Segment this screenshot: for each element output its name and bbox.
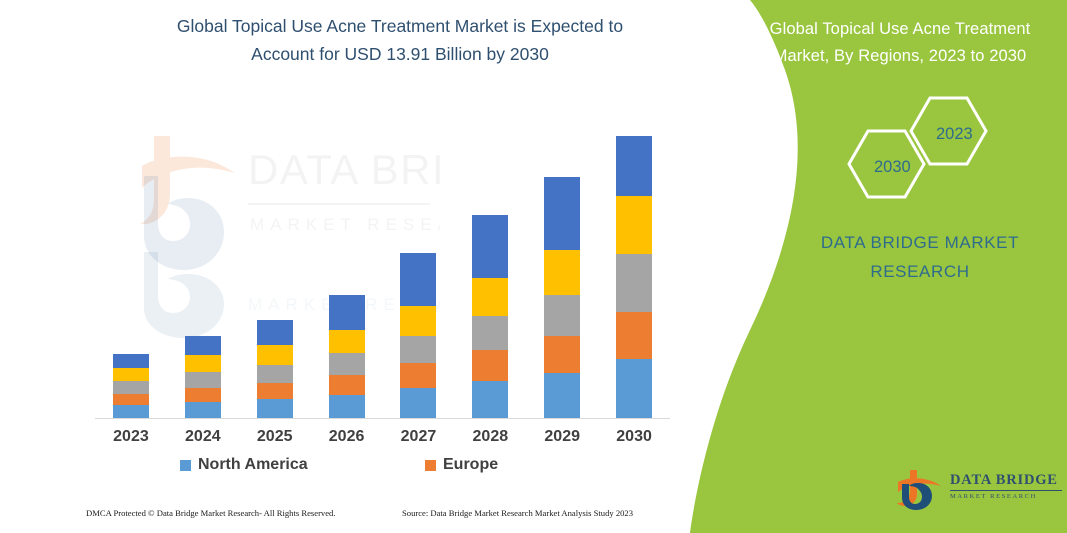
bar-segment [185,402,221,418]
bar-segment [113,368,149,381]
bar-segment [113,381,149,394]
x-axis-label-2024: 2024 [167,428,239,446]
bar-segment [113,354,149,368]
bar-segment [185,336,221,355]
legend-label: Europe [443,456,498,474]
bar-segment [257,399,293,418]
x-axis-label-2028: 2028 [454,428,526,446]
bar-segment [616,196,652,254]
x-axis-label-2030: 2030 [598,428,670,446]
bar-segment [472,350,508,381]
data-bridge-b-mark-icon [896,468,942,512]
bar-column-2027 [400,253,436,418]
panel-title-line2: Market, By Regions, 2023 to 2030 [745,43,1055,70]
infographic-root: Global Topical Use Acne Treatment Market… [0,0,1067,533]
bar-segment [257,345,293,365]
bar-segment [400,336,436,363]
bar-segment [472,215,508,278]
panel-brand-line2: RESEARCH [790,257,1050,286]
bar-segment [257,320,293,345]
bar-segment [329,295,365,330]
bar-segment [616,312,652,359]
bar-segment [472,278,508,316]
logo-title: DATA BRIDGE [950,472,1062,491]
chart-legend: North AmericaEurope [180,456,600,478]
x-axis-label-2026: 2026 [311,428,383,446]
bar-segment [257,365,293,383]
bar-segment [329,330,365,353]
legend-swatch-icon [180,460,191,471]
legend-item-north-america[interactable]: North America [180,456,308,474]
bar-segment [616,359,652,418]
bar-segment [329,395,365,418]
panel-title-line1: Global Topical Use Acne Treatment [745,16,1055,43]
bar-segment [544,177,580,250]
x-axis-label-2025: 2025 [239,428,311,446]
bar-column-2029 [544,177,580,418]
bar-column-2028 [472,215,508,418]
bar-column-2023 [113,354,149,418]
bar-column-2024 [185,336,221,418]
page-title: Global Topical Use Acne Treatment Market… [130,12,670,68]
footer-copyright: DMCA Protected © Data Bridge Market Rese… [86,508,336,518]
page-title-line1: Global Topical Use Acne Treatment Market… [130,12,670,40]
bar-segment [544,373,580,418]
x-axis-label-2029: 2029 [526,428,598,446]
bar-segment [329,375,365,395]
logo-subtitle: MARKET RESEARCH [950,493,1062,500]
hexagon-2023-label: 2023 [936,125,973,144]
page-title-line2: Account for USD 13.91 Billion by 2030 [130,40,670,68]
panel-title: Global Topical Use Acne Treatment Market… [745,16,1055,70]
x-axis-label-2023: 2023 [95,428,167,446]
bar-segment [616,254,652,312]
bar-segment [544,295,580,336]
chart-x-axis-labels: 20232024202520262027202820292030 [95,428,670,452]
hexagon-shapes [830,95,1010,200]
legend-label: North America [198,456,308,474]
bar-segment [616,136,652,196]
bar-column-2030 [616,136,652,418]
bar-segment [185,372,221,388]
panel-brand-line1: DATA BRIDGE MARKET [790,228,1050,257]
x-axis-label-2027: 2027 [382,428,454,446]
bar-segment [544,250,580,295]
bar-column-2025 [257,320,293,418]
bar-segment [185,355,221,372]
bar-segment [472,381,508,418]
bar-segment [472,316,508,350]
bar-segment [113,394,149,405]
bar-segment [400,306,436,336]
stacked-bar-chart [95,120,670,420]
bar-segment [544,336,580,373]
chart-x-axis-line [95,418,670,419]
bar-segment [113,405,149,418]
panel-brand-name: DATA BRIDGE MARKET RESEARCH [790,228,1050,286]
bar-segment [257,383,293,399]
bar-segment [400,363,436,388]
bar-segment [400,388,436,418]
footer-source: Source: Data Bridge Market Research Mark… [402,508,633,518]
hexagon-group: 2023 2030 [830,95,1010,200]
bar-column-2026 [329,295,365,418]
legend-swatch-icon [425,460,436,471]
bar-segment [400,253,436,306]
legend-item-europe[interactable]: Europe [425,456,498,474]
hexagon-2030-label: 2030 [874,158,911,177]
data-bridge-logo: DATA BRIDGE MARKET RESEARCH [896,466,1061,514]
bar-segment [185,388,221,402]
bar-segment [329,353,365,375]
logo-text-block: DATA BRIDGE MARKET RESEARCH [950,472,1062,500]
